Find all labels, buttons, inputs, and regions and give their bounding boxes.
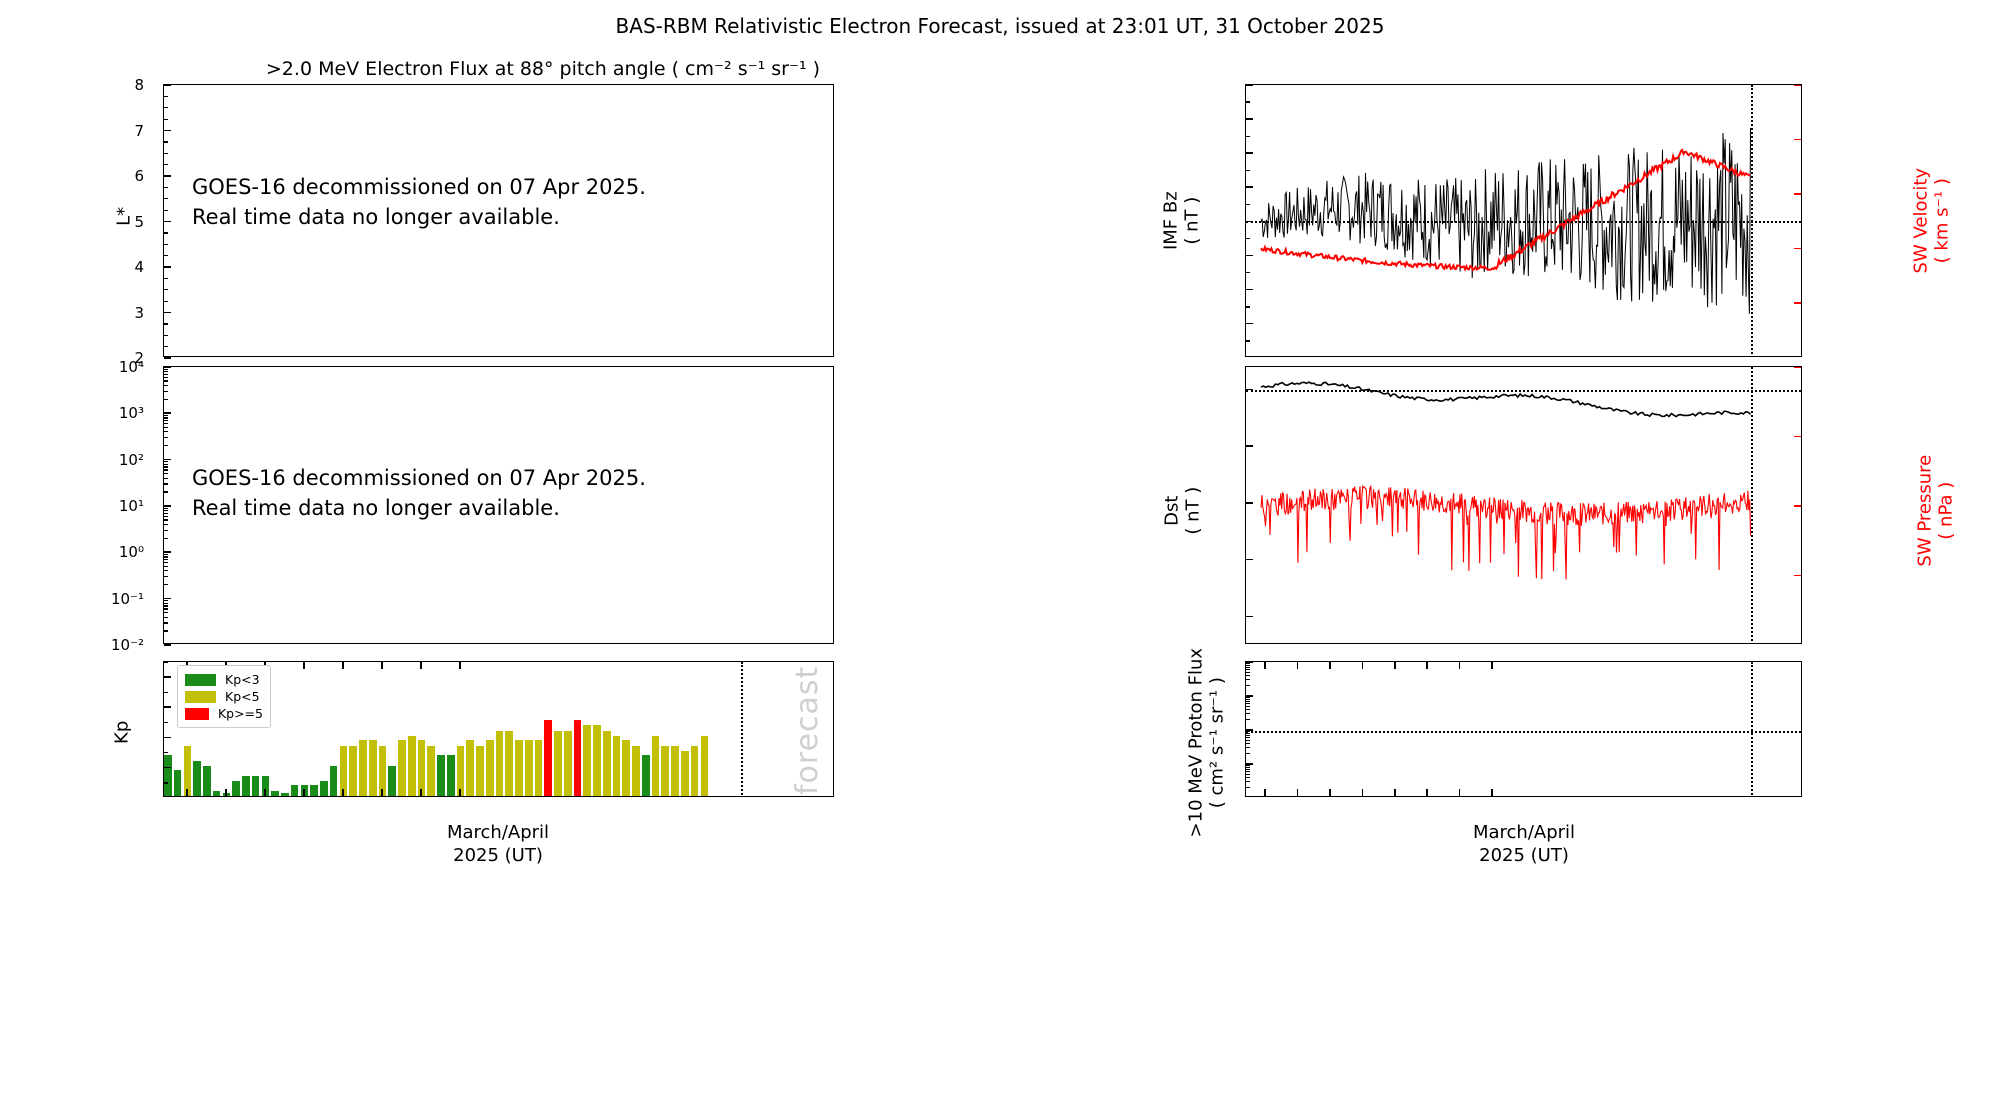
proton-minor-0-7 — [1246, 769, 1250, 770]
kp-bar — [603, 731, 611, 796]
lstar-minor-10 — [164, 244, 168, 245]
kp-tick-4 — [164, 676, 171, 678]
kp-bar — [408, 736, 416, 796]
kp-bar — [418, 740, 426, 796]
imf-left-tick-4 — [1246, 221, 1253, 223]
lstar-minor-3 — [164, 323, 168, 324]
proton-xtick-5 — [1426, 789, 1428, 796]
lstar-ticklabel-4: 6 — [0, 167, 144, 185]
imf-minor-15 — [1246, 101, 1250, 102]
lstar-tick-5 — [164, 130, 171, 132]
imf-left-tick-2 — [1246, 289, 1253, 291]
flux-no-data-message: GOES-16 decommissioned on 07 Apr 2025. R… — [192, 463, 752, 524]
kp-xlabel: March/April 2025 (UT) — [398, 822, 598, 867]
proton-xtick-top-0 — [1264, 662, 1266, 669]
imf-left-tick-1 — [1246, 323, 1253, 325]
flux-minor-0-6 — [164, 608, 168, 609]
flux-minor-3-6 — [164, 469, 168, 470]
lstar-tick-6 — [164, 84, 171, 86]
imf-minor-7 — [1246, 238, 1250, 239]
kp-legend-swatch-high — [185, 708, 209, 720]
lstar-ticklabel-1: 3 — [0, 304, 144, 322]
flux-minor-5-4 — [164, 385, 168, 386]
flux-tick-4 — [164, 459, 171, 461]
flux-minor-1-4 — [164, 570, 168, 571]
flux-minor-3-9 — [164, 461, 168, 462]
kp-bar — [359, 740, 367, 796]
lstar-minor-23 — [164, 96, 168, 97]
dst-left-tick-0 — [1246, 616, 1253, 618]
flux-minor-2-8 — [164, 510, 168, 511]
proton-panel[interactable]: 10⁻¹10⁰10¹10²10³2526272829303101 — [1245, 661, 1802, 797]
flux-minor-4-7 — [164, 420, 168, 421]
dst-forecast-boundary — [1751, 367, 1753, 644]
kp-xtick-top-6 — [420, 662, 422, 669]
flux-minor-4-6 — [164, 423, 168, 424]
lstar-minor-7 — [164, 278, 168, 279]
page-title: BAS-RBM Relativistic Electron Forecast, … — [0, 14, 2000, 38]
kp-bar — [544, 720, 552, 796]
kp-bar — [447, 755, 455, 796]
flux-minor-2-6 — [164, 516, 168, 517]
proton-ylabel: >10 MeV Proton Flux ( cm² s⁻¹ sr⁻¹ ) — [1186, 608, 1227, 878]
flux-minor-5-9 — [164, 369, 168, 370]
flux-minor-4-8 — [164, 417, 168, 418]
flux-minor-0-9 — [164, 600, 168, 601]
kp-legend: Kp<3 Kp<5 Kp>=5 — [177, 665, 271, 728]
dst-zero-line — [1246, 390, 1801, 392]
kp-bar — [203, 766, 211, 796]
kp-xtick-6 — [420, 789, 422, 796]
flux-minor-5-7 — [164, 374, 168, 375]
flux-ticklabel-1: 10⁻¹ — [0, 590, 144, 608]
flux-minor-2-5 — [164, 519, 168, 520]
kp-bar — [661, 746, 669, 796]
flux-minor-2-9 — [164, 508, 168, 509]
lstar-minor-13 — [164, 210, 168, 211]
proton-xtick-top-1 — [1297, 662, 1299, 669]
kp-tick-3 — [164, 706, 171, 708]
proton-minor-2-4 — [1246, 709, 1250, 710]
kp-forecast-watermark: forecast — [790, 666, 825, 795]
lstar-tick-1 — [164, 312, 171, 314]
dst-left-tick-3 — [1246, 445, 1253, 447]
imf-left-tick-3 — [1246, 255, 1253, 257]
lstar-tick-4 — [164, 175, 171, 177]
imf-right-tick-1 — [1794, 302, 1801, 304]
lstar-minor-18 — [164, 153, 168, 154]
imf-right-tick-3 — [1794, 193, 1801, 195]
imf-left-tick-8 — [1246, 84, 1253, 86]
kp-bar — [496, 731, 504, 796]
proton-xtick-top-7 — [1491, 662, 1493, 669]
imf-minor-5 — [1246, 272, 1250, 273]
kp-bar — [232, 781, 240, 796]
proton-minor-0-6 — [1246, 771, 1250, 772]
flux-minor-1-3 — [164, 576, 168, 577]
flux-minor-2-2 — [164, 538, 168, 539]
lstar-ticklabel-2: 4 — [0, 258, 144, 276]
flux-minor-4-5 — [164, 427, 168, 428]
flux-minor-4-4 — [164, 431, 168, 432]
kp-xtick-top-3 — [303, 662, 305, 669]
lstar-minor-2 — [164, 335, 168, 336]
flux-minor-2-4 — [164, 524, 168, 525]
dst-ylabel-left: Dst ( nT ) — [1162, 456, 1203, 566]
kp-bar — [564, 731, 572, 796]
dst-right-tick-1 — [1794, 575, 1801, 577]
flux-minor-1-8 — [164, 556, 168, 557]
kp-legend-item-low: Kp<3 — [185, 671, 263, 688]
kp-bar — [515, 740, 523, 796]
kp-legend-item-mid: Kp<5 — [185, 688, 263, 705]
lstar-minor-6 — [164, 289, 168, 290]
kp-bar — [691, 746, 699, 796]
proton-xtick-7 — [1491, 789, 1493, 796]
proton-xtick-0 — [1264, 789, 1266, 796]
imf-right-tick-4 — [1794, 139, 1801, 141]
proton-xtick-top-2 — [1329, 662, 1331, 669]
flux-minor-2-7 — [164, 513, 168, 514]
flux-minor-5-5 — [164, 380, 168, 381]
flux-minor-0-8 — [164, 603, 168, 604]
kp-xtick-3 — [303, 789, 305, 796]
kp-legend-label-high: Kp>=5 — [218, 706, 263, 721]
kp-bar — [476, 746, 484, 796]
flux-ticklabel-6: 10⁴ — [0, 358, 144, 376]
kp-bar — [554, 731, 562, 796]
flux-tick-0 — [164, 644, 171, 646]
kp-ylabel: Kp — [113, 707, 134, 757]
kp-bar — [671, 746, 679, 796]
kp-minor-3 — [164, 752, 168, 753]
proton-minor-1-2 — [1246, 753, 1250, 754]
kp-xtick-4 — [342, 789, 344, 796]
kp-xtick-5 — [381, 789, 383, 796]
kp-bar — [652, 736, 660, 796]
imf-left-tick-5 — [1246, 186, 1253, 188]
kp-tick-1 — [164, 767, 171, 769]
kp-xtick-2 — [264, 789, 266, 796]
kp-bar — [486, 740, 494, 796]
lstar-ticklabel-5: 7 — [0, 122, 144, 140]
lstar-ylabel: L* — [115, 191, 136, 241]
flux-minor-5-3 — [164, 391, 168, 392]
lstar-minor-15 — [164, 187, 168, 188]
proton-minor-2-2 — [1246, 719, 1250, 720]
kp-minor-5 — [164, 722, 168, 723]
lstar-ticklabel-6: 8 — [0, 76, 144, 94]
kp-bar — [525, 740, 533, 796]
dst-left-tick-4 — [1246, 389, 1253, 391]
kp-bar — [398, 740, 406, 796]
kp-bar — [583, 725, 591, 796]
kp-xtick-top-4 — [342, 662, 344, 669]
proton-minor-2-7 — [1246, 701, 1250, 702]
kp-bar — [427, 746, 435, 796]
flux-minor-1-9 — [164, 554, 168, 555]
lstar-minor-19 — [164, 141, 168, 142]
flux-minor-5-6 — [164, 377, 168, 378]
kp-minor-9 — [164, 661, 168, 662]
lstar-minor-21 — [164, 119, 168, 120]
proton-minor-1-9 — [1246, 731, 1250, 732]
flux-ticklabel-4: 10² — [0, 451, 144, 469]
kp-bar — [388, 766, 396, 796]
imf-minor-11 — [1246, 170, 1250, 171]
flux-minor-0-5 — [164, 612, 168, 613]
flux-minor-4-2 — [164, 445, 168, 446]
flux-minor-3-8 — [164, 464, 168, 465]
proton-minor-0-8 — [1246, 767, 1250, 768]
flux-minor-5-2 — [164, 399, 168, 400]
kp-minor-7 — [164, 692, 168, 693]
proton-xtick-top-4 — [1394, 662, 1396, 669]
proton-minor-0-4 — [1246, 777, 1250, 778]
kp-xtick-1 — [225, 789, 227, 796]
dst-left-tick-2 — [1246, 502, 1253, 504]
flux-ticklabel-5: 10³ — [0, 404, 144, 422]
proton-minor-2-8 — [1246, 699, 1250, 700]
proton-minor-1-3 — [1246, 747, 1250, 748]
flux-minor-3-2 — [164, 491, 168, 492]
proton-minor-0-2 — [1246, 787, 1250, 788]
flux-minor-0-2 — [164, 630, 168, 631]
flux-tick-5 — [164, 412, 171, 414]
flux-minor-3-7 — [164, 466, 168, 467]
kp-bar — [164, 755, 172, 796]
imf-ylabel-right: SW Velocity ( km s⁻¹ ) — [1911, 151, 1952, 291]
proton-minor-2-3 — [1246, 713, 1250, 714]
proton-xtick-top-5 — [1426, 662, 1428, 669]
dst-traces — [1246, 367, 1802, 644]
kp-bar — [369, 740, 377, 796]
proton-minor-1-4 — [1246, 743, 1250, 744]
dst-ylabel-right: SW Pressure ( nPa ) — [1915, 441, 1956, 581]
kp-bar — [574, 720, 582, 796]
kp-bar — [349, 746, 357, 796]
imf-right-tick-5 — [1794, 84, 1801, 86]
proton-minor-3-8 — [1246, 665, 1250, 666]
kp-bar — [271, 791, 279, 796]
flux-ticklabel-2: 10⁰ — [0, 543, 144, 561]
proton-minor-0-5 — [1246, 774, 1250, 775]
flux-minor-5-8 — [164, 371, 168, 372]
proton-forecast-boundary — [1751, 662, 1753, 797]
lstar-tick-2 — [164, 266, 171, 268]
kp-bar — [701, 736, 709, 796]
proton-xtick-4 — [1394, 789, 1396, 796]
lstar-tick-0 — [164, 357, 171, 359]
kp-bar — [535, 740, 543, 796]
proton-xtick-top-3 — [1362, 662, 1364, 669]
kp-tick-2 — [164, 737, 171, 739]
imf-zero-line — [1246, 221, 1801, 223]
kp-bar — [466, 740, 474, 796]
imf-left-tick-7 — [1246, 118, 1253, 120]
kp-legend-label-mid: Kp<5 — [225, 689, 260, 704]
lstar-minor-17 — [164, 164, 168, 165]
flux-minor-3-3 — [164, 483, 168, 484]
proton-minor-3-3 — [1246, 679, 1250, 680]
lstar-minor-5 — [164, 301, 168, 302]
flux-minor-0-3 — [164, 622, 168, 623]
kp-bar — [642, 755, 650, 796]
proton-minor-3-2 — [1246, 685, 1250, 686]
kp-bar — [310, 785, 318, 796]
proton-xtick-1 — [1297, 789, 1299, 796]
proton-xtick-top-6 — [1459, 662, 1461, 669]
proton-minor-1-7 — [1246, 735, 1250, 736]
flux-minor-0-4 — [164, 617, 168, 618]
flux-panel-subtitle: >2.0 MeV Electron Flux at 88° pitch angl… — [0, 58, 1086, 80]
kp-bar — [252, 776, 260, 796]
kp-bar — [613, 736, 621, 796]
lstar-minor-1 — [164, 346, 168, 347]
flux-minor-4-9 — [164, 415, 168, 416]
proton-xtick-6 — [1459, 789, 1461, 796]
kp-bar — [281, 793, 289, 796]
imf-right-tick-2 — [1794, 248, 1801, 250]
flux-ticklabel-0: 10⁻² — [0, 636, 144, 654]
imf-minor-9 — [1246, 204, 1250, 205]
flux-tick-6 — [164, 366, 171, 368]
lstar-no-data-message: GOES-16 decommissioned on 07 Apr 2025. R… — [192, 172, 752, 233]
kp-xtick-7 — [459, 789, 461, 796]
kp-bar — [681, 751, 689, 796]
kp-bar — [330, 766, 338, 796]
proton-minor-3-4 — [1246, 675, 1250, 676]
proton-minor-3-9 — [1246, 663, 1250, 664]
proton-minor-3-5 — [1246, 672, 1250, 673]
flux-minor-3-4 — [164, 478, 168, 479]
kp-bar — [174, 770, 182, 796]
proton-xtick-3 — [1362, 789, 1364, 796]
imf-panel[interactable]: -20-15-10-50510152002004006008001000 — [1245, 84, 1802, 357]
lstar-minor-22 — [164, 107, 168, 108]
flux-minor-1-7 — [164, 559, 168, 560]
kp-legend-label-low: Kp<3 — [225, 672, 260, 687]
kp-bar — [242, 776, 250, 796]
imf-minor-3 — [1246, 306, 1250, 307]
kp-bar — [632, 746, 640, 796]
flux-minor-2-3 — [164, 530, 168, 531]
kp-legend-swatch-low — [185, 674, 216, 686]
lstar-minor-11 — [164, 232, 168, 233]
imf-forecast-boundary — [1751, 85, 1753, 357]
proton-minor-2-5 — [1246, 706, 1250, 707]
flux-minor-0-7 — [164, 605, 168, 606]
proton-xtick-2 — [1329, 789, 1331, 796]
flux-minor-1-6 — [164, 562, 168, 563]
imf-minor-1 — [1246, 340, 1250, 341]
flux-tick-2 — [164, 551, 171, 553]
proton-minor-1-6 — [1246, 737, 1250, 738]
flux-minor-1-2 — [164, 584, 168, 585]
flux-minor-3-5 — [164, 473, 168, 474]
kp-bar — [213, 791, 221, 796]
dst-left-tick-1 — [1246, 559, 1253, 561]
flux-ticklabel-3: 10¹ — [0, 497, 144, 515]
kp-xtick-0 — [186, 789, 188, 796]
kp-minor-1 — [164, 782, 168, 783]
kp-bar — [193, 761, 201, 796]
kp-xtick-top-7 — [459, 662, 461, 669]
flux-tick-1 — [164, 598, 171, 600]
proton-minor-0-3 — [1246, 781, 1250, 782]
proton-xlabel: March/April 2025 (UT) — [1424, 822, 1624, 867]
kp-legend-swatch-mid — [185, 691, 216, 703]
proton-threshold-line — [1246, 731, 1801, 733]
dst-right-tick-2 — [1794, 505, 1801, 507]
lstar-minor-9 — [164, 255, 168, 256]
imf-ylabel-left: IMF Bz ( nT ) — [1161, 161, 1202, 281]
proton-minor-3-6 — [1246, 669, 1250, 670]
dst-right-tick-3 — [1794, 436, 1801, 438]
dst-right-tick-4 — [1794, 366, 1801, 368]
lstar-minor-14 — [164, 198, 168, 199]
kp-bar — [437, 755, 445, 796]
flux-minor-1-5 — [164, 566, 168, 567]
proton-minor-1-5 — [1246, 740, 1250, 741]
proton-minor-0-9 — [1246, 765, 1250, 766]
imf-left-tick-6 — [1246, 152, 1253, 154]
lstar-tick-3 — [164, 221, 171, 223]
flux-minor-4-3 — [164, 437, 168, 438]
proton-minor-1-8 — [1246, 733, 1250, 734]
kp-legend-item-high: Kp>=5 — [185, 705, 263, 722]
dst-panel[interactable]: -400-300-200-100010⁻²10⁻¹10⁰10¹10² — [1245, 366, 1802, 644]
flux-tick-3 — [164, 505, 171, 507]
proton-minor-2-9 — [1246, 697, 1250, 698]
kp-forecast-boundary — [741, 662, 743, 797]
kp-bar — [291, 785, 299, 796]
proton-minor-2-6 — [1246, 703, 1250, 704]
proton-minor-3-7 — [1246, 667, 1250, 668]
kp-bar — [505, 731, 513, 796]
kp-bar — [622, 740, 630, 796]
kp-bar — [320, 781, 328, 796]
kp-xtick-top-5 — [381, 662, 383, 669]
imf-minor-13 — [1246, 136, 1250, 137]
kp-bar — [593, 725, 601, 796]
